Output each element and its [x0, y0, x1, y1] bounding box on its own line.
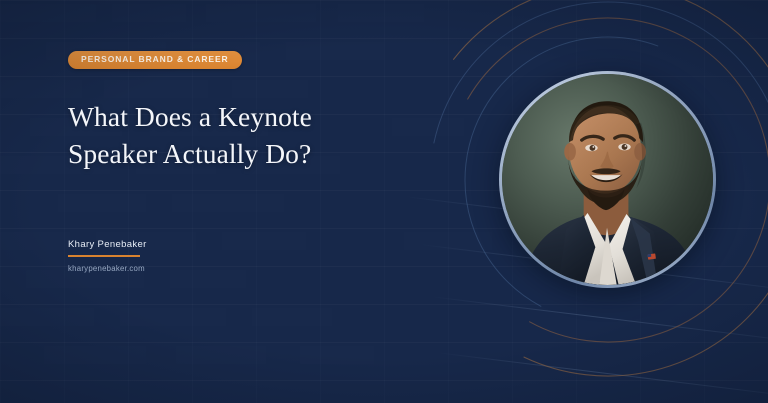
page-title-line-1: What Does a Keynote [68, 101, 312, 132]
diagonal-accent-line-3 [436, 352, 768, 394]
category-badge: PERSONAL BRAND & CAREER [68, 51, 242, 69]
author-portrait-photo [502, 74, 713, 285]
slide-canvas: PERSONAL BRAND & CAREER What Does a Keyn… [0, 0, 768, 403]
content-column: PERSONAL BRAND & CAREER What Does a Keyn… [68, 0, 448, 403]
page-title-line-2: Speaker Actually Do? [68, 136, 398, 172]
author-website[interactable]: kharypenebaker.com [68, 264, 268, 273]
portrait-ring [499, 71, 716, 288]
diagonal-accent-line-2 [430, 296, 768, 340]
flag-lapel-pin [647, 253, 655, 259]
portrait-illustration [502, 74, 713, 285]
author-name: Khary Penebaker [68, 240, 268, 255]
page-title: What Does a Keynote Speaker Actually Do? [68, 99, 398, 172]
author-underline-rule [68, 255, 140, 257]
author-block: Khary Penebaker kharypenebaker.com [68, 240, 268, 273]
